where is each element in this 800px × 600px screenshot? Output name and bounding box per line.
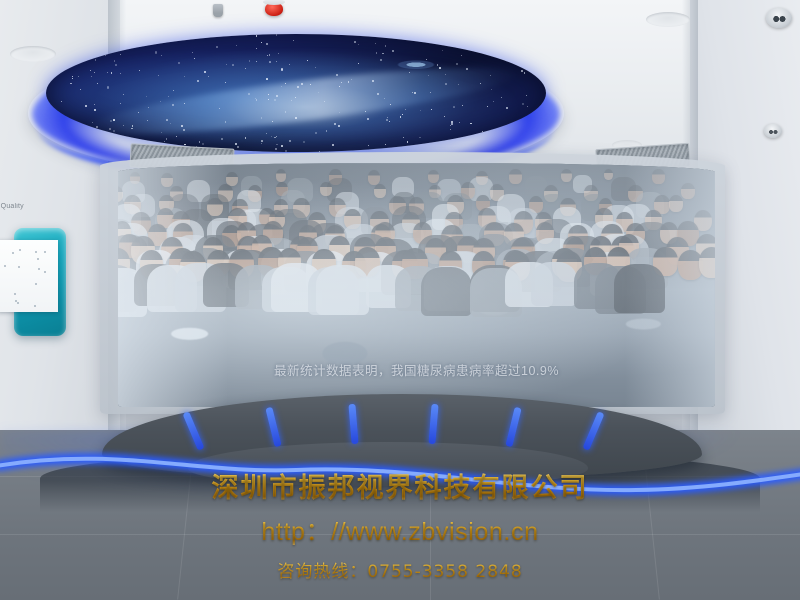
curved-projection-screen: 最新统计数据表明，我国糖尿病患病率超过10.9%	[118, 163, 715, 407]
stage-platform	[40, 388, 760, 518]
recessed-downlight-icon	[646, 12, 690, 27]
ceiling-speaker-icon	[766, 8, 792, 28]
kiosk-diagram	[4, 246, 52, 306]
floor-tile-seam	[0, 534, 800, 535]
stage-led-wave	[0, 440, 800, 514]
wall-sign-text: r Quality	[0, 203, 52, 215]
fire-alarm-strobe-icon	[265, 2, 283, 16]
sprinkler-head-icon	[213, 4, 223, 17]
screen-subtitle: 最新统计数据表明，我国糖尿病患病率超过10.9%	[118, 360, 715, 379]
interactive-kiosk[interactable]	[14, 228, 66, 336]
ceiling-speaker-icon	[764, 124, 782, 138]
kiosk-screen[interactable]	[0, 240, 58, 312]
exhibition-hall-photo: r Quality 最新统计数据表明，我国糖尿病患病率超过10.9%	[0, 0, 800, 600]
starfield-dome	[36, 28, 556, 168]
